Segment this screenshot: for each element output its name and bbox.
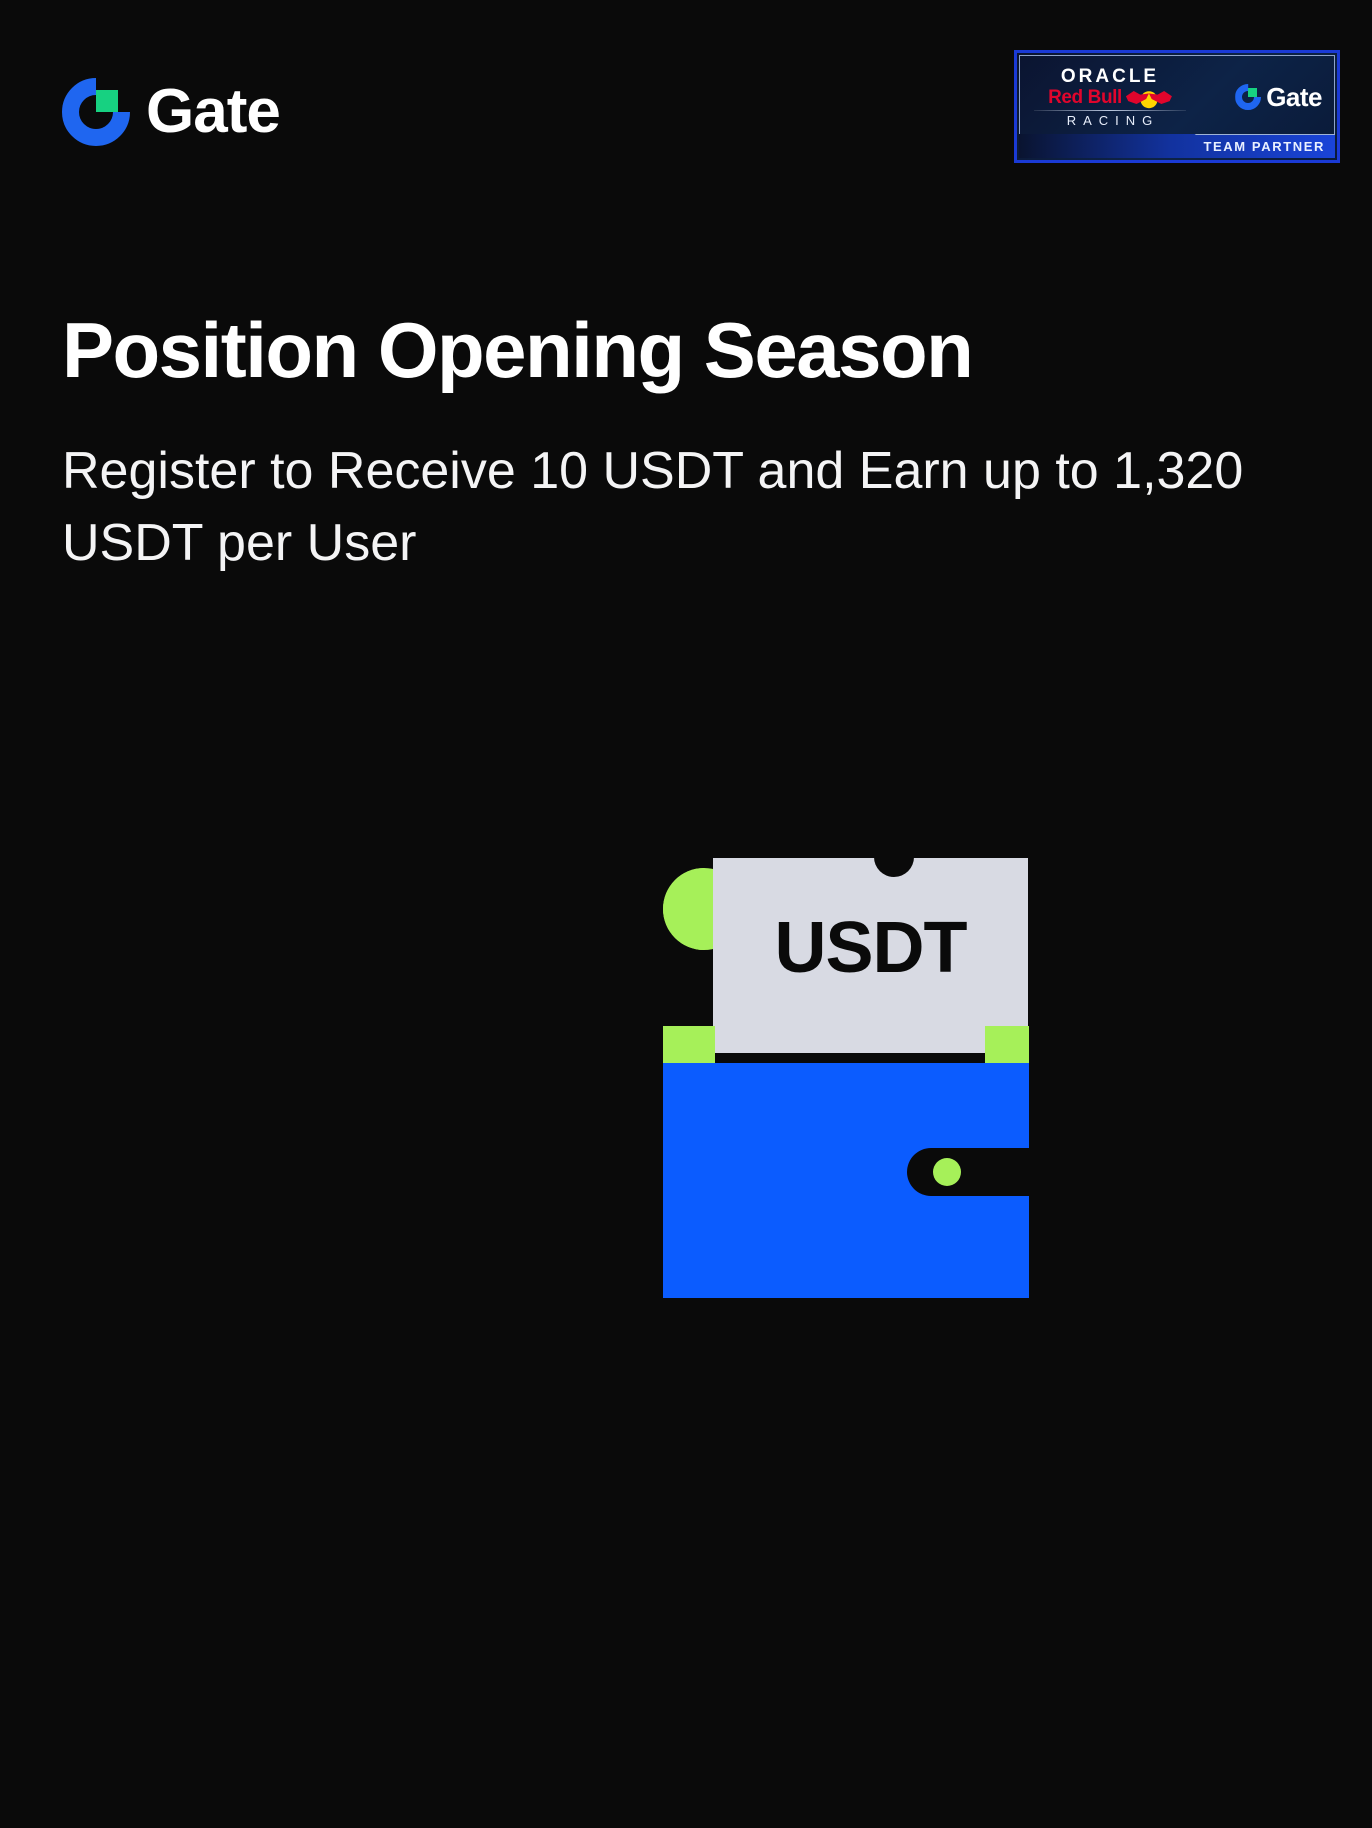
- wallet-clasp-icon: [907, 1148, 1029, 1196]
- badge-gate-wordmark: Gate: [1266, 82, 1322, 113]
- wallet-clasp-dot-icon: [933, 1158, 961, 1186]
- red-bull-bulls-icon: [1126, 88, 1172, 107]
- gate-logo-icon: [62, 78, 130, 146]
- usdt-wallet-illustration: USDT: [663, 858, 1083, 1303]
- page-title: Position Opening Season: [62, 310, 1302, 392]
- oracle-label: ORACLE: [1061, 67, 1159, 86]
- badge-inner-content: ORACLE Red Bull RACING Gate: [1019, 55, 1335, 138]
- card-notch-icon: [874, 857, 914, 877]
- page-subtitle: Register to Receive 10 USDT and Earn up …: [62, 436, 1302, 580]
- oracle-red-bull-racing-lockup: ORACLE Red Bull RACING: [1034, 67, 1186, 127]
- red-bull-row: Red Bull: [1048, 88, 1172, 107]
- badge-gate-logo: Gate: [1235, 82, 1322, 113]
- team-partner-label: TEAM PARTNER: [1203, 139, 1325, 154]
- gate-wordmark: Gate: [146, 81, 280, 143]
- headline-block: Position Opening Season Register to Rece…: [62, 310, 1302, 579]
- badge-divider-rule: [1034, 110, 1186, 111]
- usdt-card-label: USDT: [713, 912, 1028, 984]
- team-partner-bar: TEAM PARTNER: [1019, 134, 1335, 158]
- gate-logo-icon: [1235, 84, 1261, 110]
- red-bull-label: Red Bull: [1048, 88, 1122, 107]
- red-bull-racing-partner-badge[interactable]: ORACLE Red Bull RACING Gate: [1014, 50, 1340, 163]
- gate-brand-logo[interactable]: Gate: [62, 78, 280, 146]
- usdt-card: USDT: [713, 858, 1028, 1053]
- racing-label: RACING: [1061, 114, 1160, 127]
- wallet-green-tab-left: [663, 1026, 715, 1064]
- page-header: Gate ORACLE Red Bull RACING: [0, 0, 1372, 200]
- wallet-green-tab-right: [985, 1026, 1029, 1064]
